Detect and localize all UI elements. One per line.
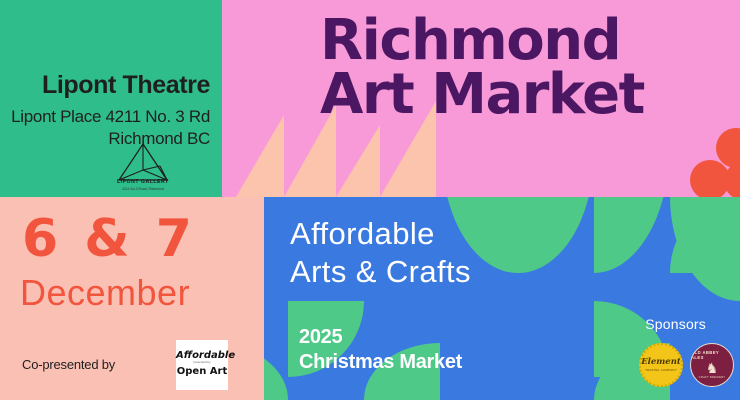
title-panel: Richmond Art Market bbox=[222, 0, 740, 197]
venue-info: Lipont Theatre Lipont Place 4211 No. 3 R… bbox=[0, 72, 210, 151]
event-name: Christmas Market bbox=[299, 350, 462, 375]
event-month: December bbox=[20, 275, 190, 311]
quarter-circle-decoration-icon bbox=[264, 343, 288, 400]
quarter-circle-decoration-icon bbox=[670, 197, 740, 301]
element-subtitle: TRADING COMPANY bbox=[645, 368, 677, 372]
event-name-block: 2025 Christmas Market bbox=[299, 325, 462, 375]
title-line-2: Art Market bbox=[320, 68, 644, 122]
quarter-circle-decoration-icon bbox=[594, 197, 670, 273]
copresented-label: Co-presented by bbox=[22, 357, 115, 372]
affordable-open-art-logo: Affordable presented by Open Art bbox=[176, 340, 228, 390]
old-abbey-ales-badge-icon: OLD ABBEY ALES ♞ CRAFT BREWERY bbox=[690, 343, 734, 387]
triangle-logo-icon bbox=[114, 140, 172, 184]
tagline-line-2: Arts & Crafts bbox=[290, 253, 471, 291]
element-badge-icon: Element TRADING COMPANY bbox=[639, 343, 683, 387]
title-line-1: Richmond bbox=[320, 14, 644, 68]
circle-decoration-icon bbox=[724, 162, 740, 197]
aoa-line-2: presented by bbox=[176, 360, 228, 364]
element-name: Element bbox=[641, 358, 681, 367]
event-poster: Lipont Theatre Lipont Place 4211 No. 3 R… bbox=[0, 0, 740, 400]
lipont-gallery-subtitle: 4211 No.3 Road, Richmond bbox=[114, 187, 172, 191]
venue-name: Lipont Theatre bbox=[0, 72, 210, 100]
quarter-circle-decoration-icon bbox=[518, 197, 594, 273]
abbey-subtitle: CRAFT BREWERY bbox=[699, 376, 726, 379]
page-title: Richmond Art Market bbox=[320, 14, 644, 123]
details-panel: Affordable Arts & Crafts 2025 Christmas … bbox=[264, 197, 740, 400]
tagline: Affordable Arts & Crafts bbox=[290, 215, 471, 291]
event-year: 2025 bbox=[299, 325, 462, 350]
sponsor-logo-list: Element TRADING COMPANY OLD ABBEY ALES ♞… bbox=[639, 343, 734, 387]
venue-address-line-1: Lipont Place 4211 No. 3 Rd bbox=[0, 106, 210, 129]
triangle-decoration-icon bbox=[236, 115, 284, 197]
tagline-line-1: Affordable bbox=[290, 215, 471, 253]
aoa-line-3: Open Art bbox=[176, 366, 228, 377]
abbey-name: OLD ABBEY ALES bbox=[691, 351, 733, 359]
sponsors-label: Sponsors bbox=[645, 316, 706, 332]
lipont-gallery-logo: LIPONT GALLERY 4211 No.3 Road, Richmond bbox=[114, 140, 172, 192]
event-days: 6 & 7 bbox=[22, 213, 196, 265]
lion-crest-icon: ♞ bbox=[706, 361, 719, 375]
triangle-decoration-icon bbox=[336, 125, 380, 197]
lipont-gallery-name: LIPONT GALLERY bbox=[114, 179, 172, 185]
venue-address-line-2: Richmond BC bbox=[0, 128, 210, 151]
venue-panel: Lipont Theatre Lipont Place 4211 No. 3 R… bbox=[0, 0, 222, 197]
